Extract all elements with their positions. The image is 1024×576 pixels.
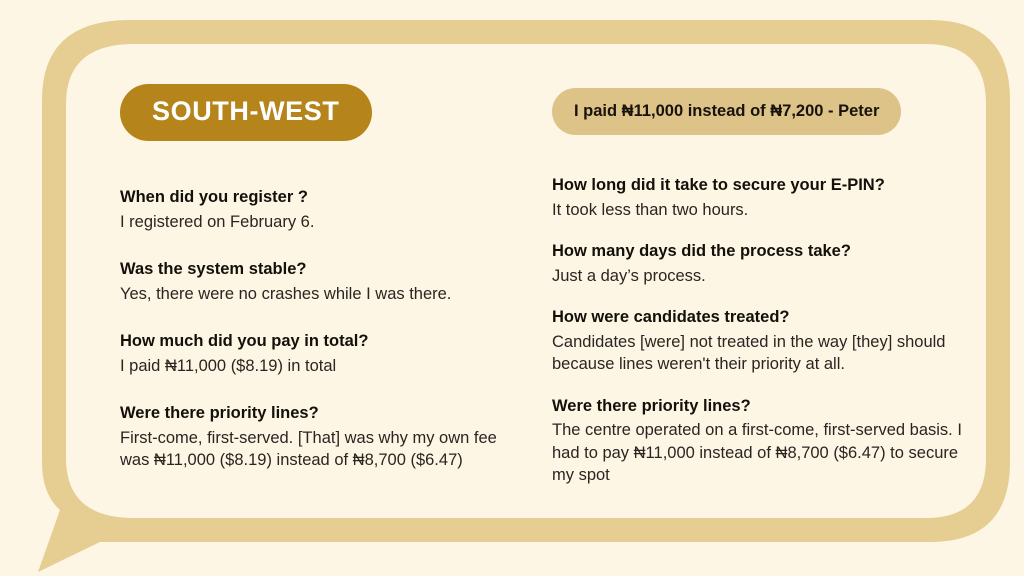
qa-block: Was the system stable? Yes, there were n…	[120, 259, 510, 305]
answer-text: It took less than two hours.	[552, 199, 962, 221]
bubble-content: SOUTH-WEST When did you register ? I reg…	[58, 44, 978, 516]
answer-text: The centre operated on a first-come, fir…	[552, 419, 962, 486]
qa-block: Were there priority lines? First-come, f…	[120, 403, 510, 471]
right-column: I paid ₦11,000 instead of ₦7,200 - Peter…	[552, 84, 962, 506]
left-column: SOUTH-WEST When did you register ? I reg…	[120, 84, 510, 497]
question-text: Were there priority lines?	[120, 403, 510, 425]
question-text: How long did it take to secure your E-PI…	[552, 175, 962, 197]
two-column-layout: SOUTH-WEST When did you register ? I reg…	[120, 84, 932, 506]
slide-canvas: SOUTH-WEST When did you register ? I reg…	[0, 0, 1024, 576]
answer-text: Just a day’s process.	[552, 265, 962, 287]
question-text: How were candidates treated?	[552, 307, 962, 329]
quote-badge: I paid ₦11,000 instead of ₦7,200 - Peter	[552, 88, 901, 135]
qa-block: Were there priority lines? The centre op…	[552, 396, 962, 487]
qa-block: When did you register ? I registered on …	[120, 187, 510, 233]
answer-text: Candidates [were] not treated in the way…	[552, 331, 962, 376]
qa-block: How many days did the process take? Just…	[552, 241, 962, 287]
question-text: Was the system stable?	[120, 259, 510, 281]
qa-block: How long did it take to secure your E-PI…	[552, 175, 962, 221]
answer-text: I paid ₦11,000 ($8.19) in total	[120, 355, 510, 377]
answer-text: I registered on February 6.	[120, 211, 510, 233]
answer-text: Yes, there were no crashes while I was t…	[120, 283, 510, 305]
question-text: When did you register ?	[120, 187, 510, 209]
question-text: Were there priority lines?	[552, 396, 962, 418]
question-text: How many days did the process take?	[552, 241, 962, 263]
question-text: How much did you pay in total?	[120, 331, 510, 353]
qa-block: How were candidates treated? Candidates …	[552, 307, 962, 375]
qa-block: How much did you pay in total? I paid ₦1…	[120, 331, 510, 377]
region-badge: SOUTH-WEST	[120, 84, 372, 141]
answer-text: First-come, first-served. [That] was why…	[120, 427, 510, 472]
